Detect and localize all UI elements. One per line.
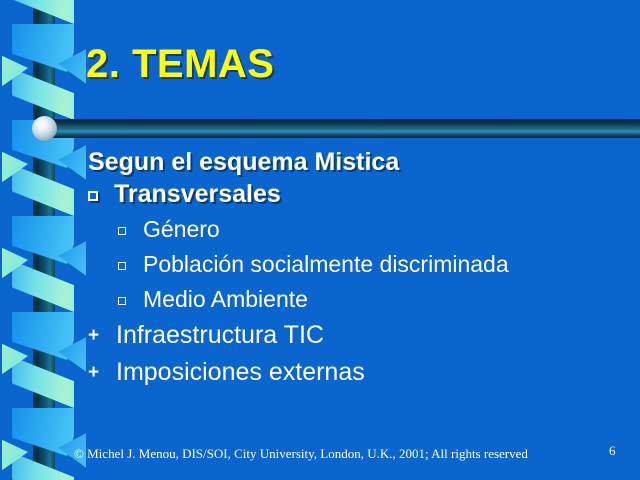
list-item-label: Población socialmente discriminada [143, 251, 509, 278]
list-item: + Infraestructura TIC [88, 321, 630, 351]
list-item-label: Imposiciones externas [116, 358, 365, 387]
list-item-label: Género [143, 216, 220, 243]
list-item: + Imposiciones externas [88, 358, 630, 388]
list-item: Medio Ambiente [118, 286, 630, 314]
title-divider-bar [44, 119, 640, 138]
list-item: Población socialmente discriminada [118, 251, 630, 279]
page-number: 6 [609, 443, 616, 459]
bullet-item-transversales: Transversales [88, 180, 630, 210]
divider-ball-icon [32, 116, 57, 141]
bullet-label: Transversales [114, 180, 281, 209]
square-bullet-icon [118, 216, 143, 244]
body-heading: Segun el esquema Mistica [88, 148, 630, 177]
body-heading-label: Segun el esquema Mistica [88, 148, 399, 177]
plus-bullet-icon: + [88, 358, 116, 388]
slide-body: Segun el esquema Mistica Transversales G… [60, 148, 630, 395]
list-item-label: Infraestructura TIC [116, 321, 324, 350]
square-bullet-icon [88, 180, 114, 210]
list-item-label: Medio Ambiente [143, 286, 308, 313]
footer-copyright: © Michel J. Menou, DIS/SOI, City Univers… [74, 446, 528, 462]
plus-bullet-icon: + [88, 321, 116, 351]
square-bullet-icon [118, 251, 143, 279]
square-bullet-icon [118, 286, 143, 314]
presentation-slide: 2. TEMAS Segun el esquema Mistica Transv… [0, 0, 640, 480]
list-item: Género [118, 216, 630, 244]
slide-title: 2. TEMAS [86, 42, 274, 87]
